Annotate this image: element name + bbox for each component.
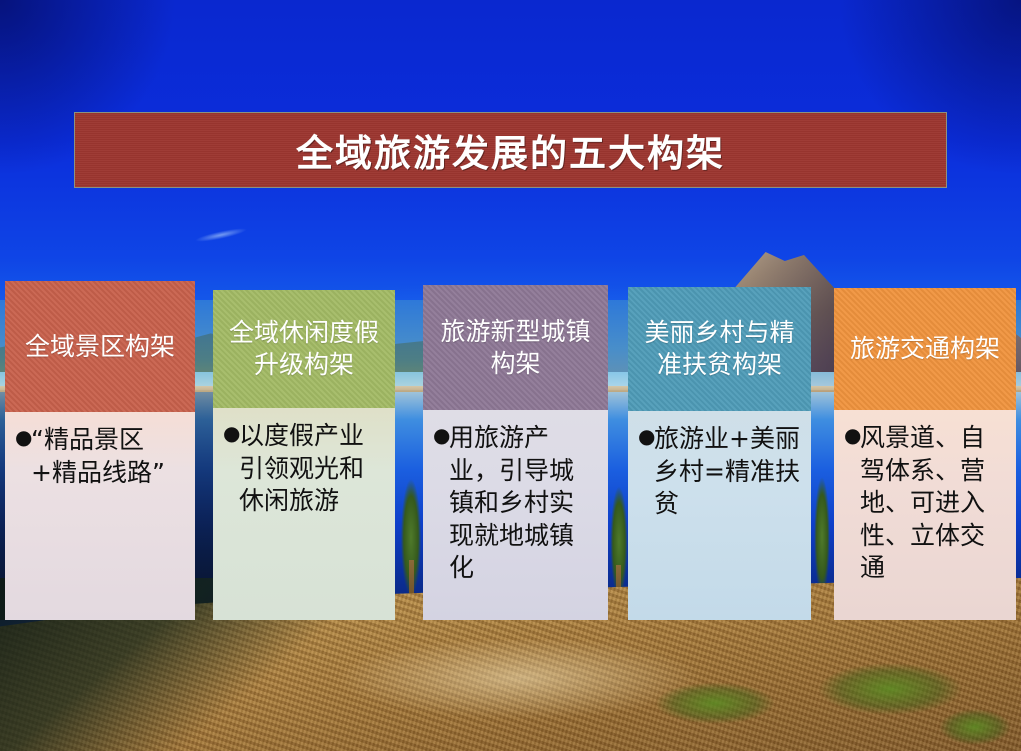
- bullet-icon: ●: [223, 420, 239, 447]
- framework-card-lvyou-xinxing-chengzhen[interactable]: 旅游新型城镇构架 ● 用旅游产业，引导城镇和乡村实现就地城镇化: [423, 285, 608, 620]
- card-bullet-text: “精品景区+精品线路”: [31, 424, 185, 489]
- list-item: ● 风景道、自驾体系、营地、可进入性、立体交通: [844, 422, 1006, 585]
- slide-title-banner: 全域旅游发展的五大构架: [74, 112, 947, 188]
- framework-card-quanyu-xiuxian-dujia[interactable]: 全域休闲度假升级构架 ● 以度假产业引领观光和休闲旅游: [213, 290, 395, 620]
- grass-tuft: [930, 700, 1020, 745]
- framework-card-quanyu-jingqu[interactable]: 全域景区构架 ● “精品景区+精品线路”: [5, 281, 195, 620]
- list-item: ● 以度假产业引领观光和休闲旅游: [223, 420, 385, 518]
- card-header-title: 旅游交通构架: [834, 288, 1016, 410]
- card-header-title: 美丽乡村与精准扶贫构架: [628, 287, 811, 411]
- framework-card-lvyou-jiaotong[interactable]: 旅游交通构架 ● 风景道、自驾体系、营地、可进入性、立体交通: [834, 288, 1016, 620]
- bullet-icon: ●: [638, 423, 654, 450]
- card-body: ● 风景道、自驾体系、营地、可进入性、立体交通: [834, 410, 1016, 620]
- card-header-title: 全域景区构架: [5, 281, 195, 412]
- card-header-title: 全域休闲度假升级构架: [213, 290, 395, 408]
- card-bullet-text: 旅游业+美丽乡村=精准扶贫: [654, 423, 801, 521]
- list-item: ● “精品景区+精品线路”: [15, 424, 185, 489]
- card-bullet-text: 以度假产业引领观光和休闲旅游: [239, 420, 385, 518]
- bullet-icon: ●: [433, 422, 449, 449]
- list-item: ● 用旅游产业，引导城镇和乡村实现就地城镇化: [433, 422, 598, 585]
- card-body: ● 旅游业+美丽乡村=精准扶贫: [628, 411, 811, 620]
- card-body: ● “精品景区+精品线路”: [5, 412, 195, 620]
- framework-card-meili-xiangcun-fupin[interactable]: 美丽乡村与精准扶贫构架 ● 旅游业+美丽乡村=精准扶贫: [628, 287, 811, 620]
- page-title: 全域旅游发展的五大构架: [296, 123, 725, 177]
- card-body: ● 以度假产业引领观光和休闲旅游: [213, 408, 395, 620]
- grass-tuft: [640, 672, 790, 724]
- card-bullet-text: 用旅游产业，引导城镇和乡村实现就地城镇化: [449, 422, 598, 585]
- bullet-icon: ●: [15, 424, 31, 451]
- card-bullet-text: 风景道、自驾体系、营地、可进入性、立体交通: [860, 422, 1006, 585]
- list-item: ● 旅游业+美丽乡村=精准扶贫: [638, 423, 801, 521]
- card-header-title: 旅游新型城镇构架: [423, 285, 608, 410]
- bullet-icon: ●: [844, 422, 860, 449]
- card-body: ● 用旅游产业，引导城镇和乡村实现就地城镇化: [423, 410, 608, 620]
